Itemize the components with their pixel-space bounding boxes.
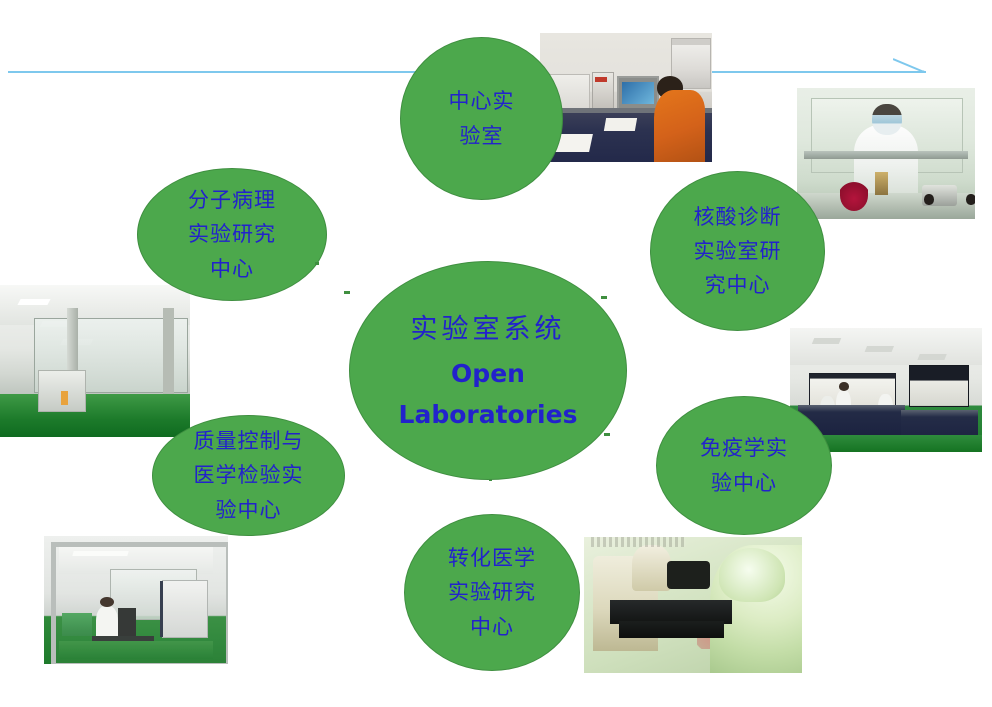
node-nucleic-acid-diagnostics[interactable]: 核酸诊断 实验室研 究中心 bbox=[650, 171, 825, 331]
photo-lab-computer bbox=[540, 33, 712, 162]
node-translational-line2: 实验研究 bbox=[448, 575, 536, 609]
node-molecular-pathology-line2: 实验研究 bbox=[188, 217, 276, 251]
node-immunology-line1: 免疫学实 bbox=[700, 431, 788, 465]
photo-lab-window-microscope bbox=[44, 536, 228, 664]
node-translational-line3: 中心 bbox=[470, 610, 514, 644]
node-quality-control-line2: 医学检验实 bbox=[194, 458, 304, 492]
node-nucleic-acid-line1: 核酸诊断 bbox=[694, 200, 782, 234]
node-quality-control[interactable]: 质量控制与 医学检验实 验中心 bbox=[152, 415, 345, 536]
node-molecular-pathology-line3: 中心 bbox=[210, 252, 254, 286]
node-nucleic-acid-line3: 究中心 bbox=[705, 268, 771, 302]
node-center-open-laboratories[interactable]: 实验室系统 Open Laboratories bbox=[349, 261, 627, 480]
node-translational-medicine[interactable]: 转化医学 实验研究 中心 bbox=[404, 514, 580, 671]
node-central-lab-line1: 中心实 bbox=[449, 84, 515, 118]
node-central-lab-line2: 验室 bbox=[460, 119, 504, 153]
photo-lab-corridor bbox=[0, 285, 190, 437]
connector-tick-upper-right bbox=[601, 296, 607, 299]
node-nucleic-acid-line2: 实验室研 bbox=[694, 234, 782, 268]
center-title-cn: 实验室系统 bbox=[411, 306, 566, 355]
node-molecular-pathology-line1: 分子病理 bbox=[188, 183, 276, 217]
node-molecular-pathology[interactable]: 分子病理 实验研究 中心 bbox=[137, 168, 327, 301]
top-arrow-head-icon bbox=[893, 58, 925, 74]
center-title-en-line1: Open bbox=[451, 354, 525, 395]
node-immunology-line2: 验中心 bbox=[711, 466, 777, 500]
photo-microscope-green-gown bbox=[584, 537, 802, 673]
photo-biosafety-cabinet bbox=[797, 88, 975, 219]
center-title-en-line2: Laboratories bbox=[399, 395, 578, 436]
node-quality-control-line3: 验中心 bbox=[216, 493, 282, 527]
node-quality-control-line1: 质量控制与 bbox=[194, 424, 304, 458]
node-translational-line1: 转化医学 bbox=[448, 541, 536, 575]
connector-tick-upper-left bbox=[344, 291, 350, 294]
slide-canvas: 中心实 验室 分子病理 实验研究 中心 核酸诊断 实验室研 究中心 实验室系统 … bbox=[0, 0, 992, 707]
photo-watermark bbox=[591, 537, 687, 547]
node-central-lab[interactable]: 中心实 验室 bbox=[400, 37, 563, 200]
node-immunology[interactable]: 免疫学实 验中心 bbox=[656, 396, 832, 535]
connector-tick-top-left bbox=[315, 262, 319, 265]
connector-tick-lower-right bbox=[604, 433, 610, 436]
